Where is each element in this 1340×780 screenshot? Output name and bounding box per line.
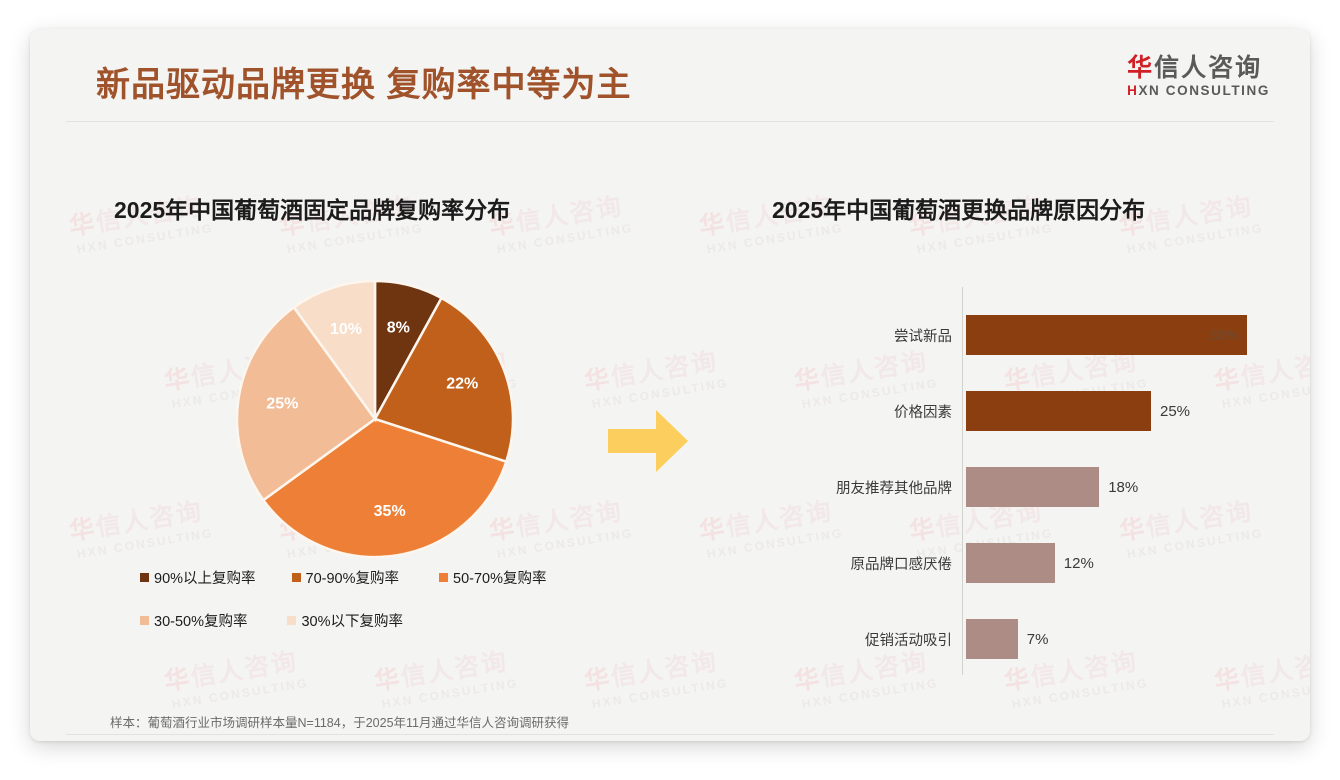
legend-label: 30%以下复购率 [301,610,403,631]
page-title: 新品驱动品牌更换 复购率中等为主 [96,57,631,106]
legend-label: 90%以上复购率 [154,567,256,588]
bar-fill[interactable] [966,467,1099,507]
legend-label: 50-70%复购率 [453,567,546,588]
bar-track: 38% [966,315,1272,355]
bar-track: 12% [966,543,1272,583]
bar-row: 朋友推荐其他品牌18% [772,467,1272,507]
bar-value-label: 38% [1209,327,1239,344]
watermark: 华信人咨询HXN CONSULTING [583,648,730,712]
slide-canvas: 华信人咨询HXN CONSULTING华信人咨询HXN CONSULTING华信… [30,29,1310,741]
logo-english-red: H [1127,83,1138,98]
legend-label: 30-50%复购率 [154,610,247,631]
bar-track: 7% [966,619,1272,659]
right-arrow-icon [608,407,690,480]
logo-chinese: 华信人咨询 [1127,55,1270,81]
bar-value-label: 18% [1108,479,1138,496]
pie-chart-legend: 90%以上复购率70-90%复购率50-70%复购率30-50%复购率30%以下… [140,567,610,653]
bar-fill[interactable] [966,619,1018,659]
pie-chart-svg: 8%22%35%25%10% [220,269,530,569]
slide-header: 新品驱动品牌更换 复购率中等为主 华信人咨询 HXN CONSULTING [30,29,1310,129]
bar-chart-title: 2025年中国葡萄酒更换品牌原因分布 [772,191,1145,225]
bar-category-label: 原品牌口感厌倦 [772,553,966,574]
legend-item[interactable]: 90%以上复购率 [140,567,256,588]
header-divider [66,121,1274,122]
bar-row: 原品牌口感厌倦12% [772,543,1272,583]
bar-value-label: 7% [1027,631,1049,648]
legend-row: 90%以上复购率70-90%复购率50-70%复购率 [140,567,610,588]
legend-item[interactable]: 50-70%复购率 [439,567,546,588]
source-note: 样本：葡萄酒行业市场调研样本量N=1184，于2025年11月通过华信人咨询调研… [110,712,569,731]
legend-row: 30-50%复购率30%以下复购率 [140,610,610,631]
pie-slice-label: 22% [446,376,478,393]
right-arrow-svg [608,407,690,475]
legend-item[interactable]: 70-90%复购率 [292,567,399,588]
legend-swatch [140,616,149,625]
pie-slice-label: 25% [266,396,298,413]
bar-category-label: 朋友推荐其他品牌 [772,477,966,498]
bar-category-label: 尝试新品 [772,325,966,346]
logo-english: HXN CONSULTING [1127,83,1270,98]
company-logo: 华信人咨询 HXN CONSULTING [1127,55,1270,98]
pie-slice-label: 8% [387,319,410,336]
bar-row: 价格因素25% [772,391,1272,431]
bar-value-label: 12% [1064,555,1094,572]
watermark: 华信人咨询HXN CONSULTING [583,348,730,412]
legend-swatch [287,616,296,625]
logo-english-rest: XN CONSULTING [1138,83,1270,98]
bar-value-label: 25% [1160,403,1190,420]
bar-track: 18% [966,467,1272,507]
logo-chinese-rest: 信人咨询 [1154,54,1262,82]
bar-fill[interactable] [966,543,1055,583]
legend-swatch [140,573,149,582]
bar-row: 促销活动吸引7% [772,619,1272,659]
pie-slice-label: 10% [330,321,362,338]
watermark: 华信人咨询HXN CONSULTING [163,648,310,712]
bar-category-label: 促销活动吸引 [772,629,966,650]
legend-swatch [292,573,301,582]
bar-fill[interactable] [966,315,1247,355]
bar-category-label: 价格因素 [772,401,966,422]
pie-slice-label: 35% [374,503,406,520]
bar-chart: 尝试新品38%价格因素25%朋友推荐其他品牌18%原品牌口感厌倦12%促销活动吸… [772,287,1272,675]
legend-swatch [439,573,448,582]
watermark: 华信人咨询HXN CONSULTING [373,648,520,712]
pie-chart-title: 2025年中国葡萄酒固定品牌复购率分布 [114,191,510,225]
legend-item[interactable]: 30%以下复购率 [287,610,403,631]
legend-label: 70-90%复购率 [306,567,399,588]
bar-row: 尝试新品38% [772,315,1272,355]
watermark: 华信人咨询HXN CONSULTING [68,498,215,562]
bar-track: 25% [966,391,1272,431]
pie-chart: 8%22%35%25%10% [220,269,530,569]
slide-footer: ©2026.1 HXR华信人咨询 www.hxrcon.com [30,734,1310,741]
logo-chinese-red: 华 [1127,54,1154,82]
bar-fill[interactable] [966,391,1151,431]
legend-item[interactable]: 30-50%复购率 [140,610,247,631]
